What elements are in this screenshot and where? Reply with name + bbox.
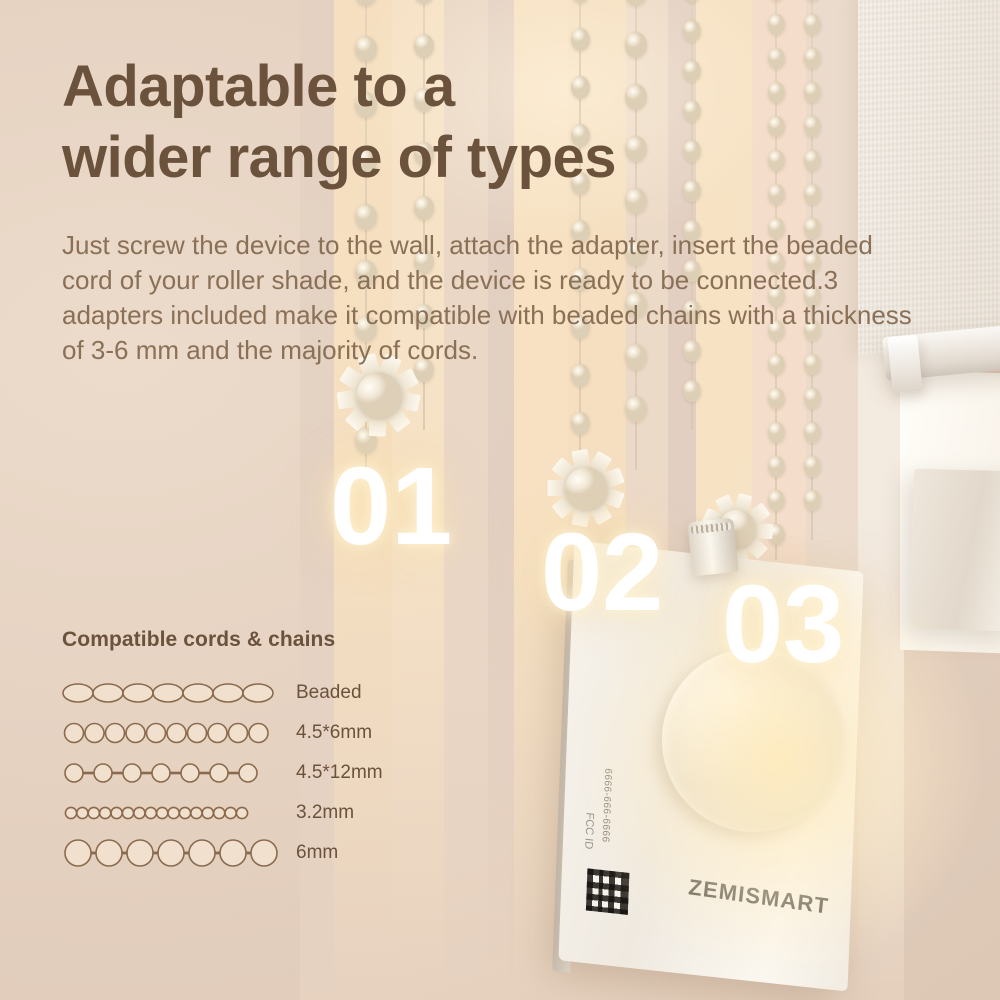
- step-number-01: 01: [330, 452, 452, 562]
- chain-tiny-circles-icon: [62, 796, 286, 830]
- step-number-02: 02: [541, 518, 663, 628]
- headline-line-2: wider range of types: [62, 123, 762, 194]
- headline-line-1: Adaptable to a: [62, 52, 762, 123]
- compatible-cord-row: 4.5*6mm: [62, 714, 462, 752]
- step-number-03: 03: [722, 570, 844, 680]
- compatible-cord-row: 4.5*12mm: [62, 754, 462, 792]
- compatible-cord-label: 4.5*6mm: [286, 722, 372, 744]
- compatible-cord-row: 6mm: [62, 834, 462, 872]
- page-title: Adaptable to a wider range of types: [62, 52, 762, 194]
- compatible-cords-title: Compatible cords & chains: [62, 628, 462, 652]
- chain-small-circles-touching-icon: [62, 716, 286, 750]
- compatible-cord-label: 4.5*12mm: [286, 762, 383, 784]
- compatible-cord-label: Beaded: [286, 682, 362, 704]
- chain-oval-links-icon: [62, 676, 286, 710]
- compatible-cord-row: Beaded: [62, 674, 462, 712]
- compatible-cords-list: Beaded4.5*6mm4.5*12mm3.2mm6mm: [62, 674, 462, 872]
- content-overlay: Adaptable to a wider range of types Just…: [0, 0, 1000, 1000]
- compatible-cords-section: Compatible cords & chains Beaded4.5*6mm4…: [62, 628, 462, 874]
- chain-large-circles-with-rods-icon: [62, 836, 286, 870]
- compatible-cord-row: 3.2mm: [62, 794, 462, 832]
- compatible-cord-label: 6mm: [286, 842, 338, 864]
- chain-circles-with-rods-icon: [62, 756, 286, 790]
- compatible-cord-label: 3.2mm: [286, 802, 354, 824]
- description-paragraph: Just screw the device to the wall, attac…: [62, 228, 924, 368]
